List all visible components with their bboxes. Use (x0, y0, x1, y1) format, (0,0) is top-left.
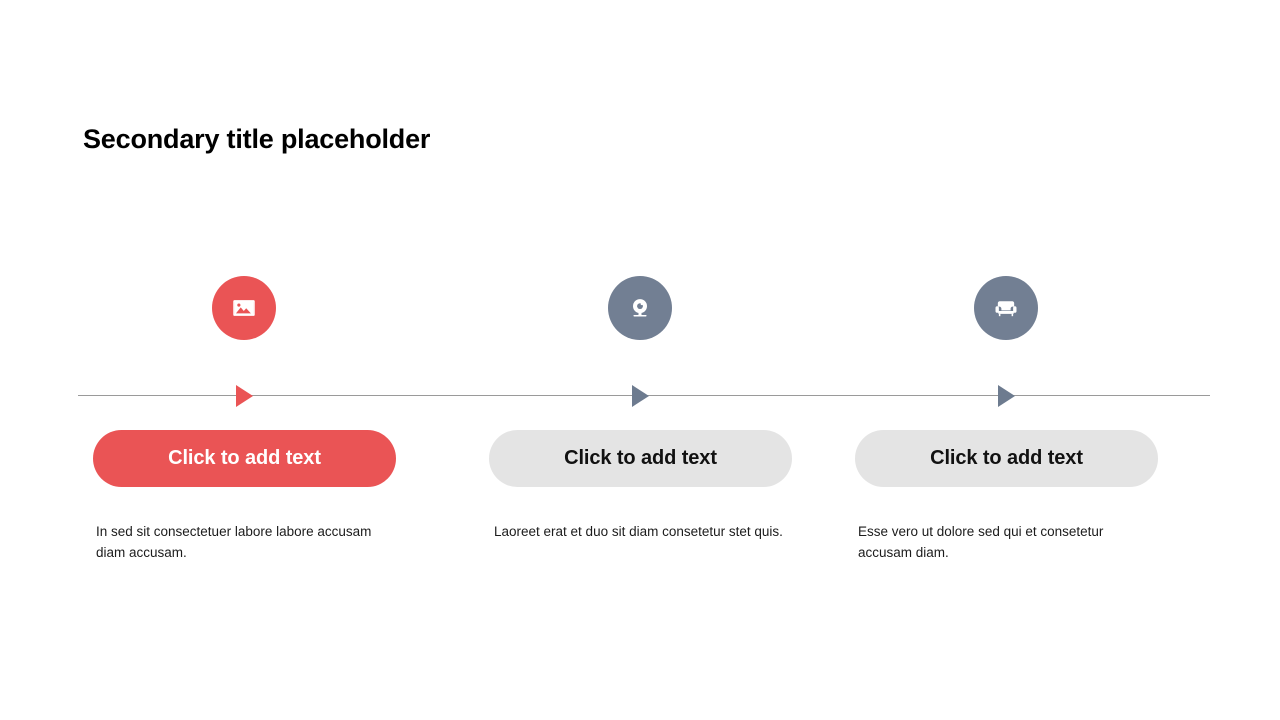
column-body-text-3: Esse vero ut dolore sed qui et consetetu… (858, 521, 1148, 563)
add-text-button-1[interactable]: Click to add text (93, 430, 396, 487)
icon-badge-2 (608, 276, 672, 340)
armchair-icon (992, 294, 1020, 322)
column-body-text-2: Laoreet erat et duo sit diam consetetur … (494, 521, 784, 542)
timeline-column-1: Click to add text In sed sit consectetue… (44, 0, 444, 720)
column-body-text-1: In sed sit consectetuer labore labore ac… (96, 521, 386, 563)
webcam-icon (626, 294, 654, 322)
icon-badge-1 (212, 276, 276, 340)
timeline-column-2: Click to add text Laoreet erat et duo si… (440, 0, 840, 720)
add-text-button-3[interactable]: Click to add text (855, 430, 1158, 487)
add-text-button-2[interactable]: Click to add text (489, 430, 792, 487)
slide-canvas: Secondary title placeholder Click to add… (0, 0, 1280, 720)
icon-badge-3 (974, 276, 1038, 340)
timeline-column-3: Click to add text Esse vero ut dolore se… (806, 0, 1206, 720)
image-icon (230, 294, 258, 322)
